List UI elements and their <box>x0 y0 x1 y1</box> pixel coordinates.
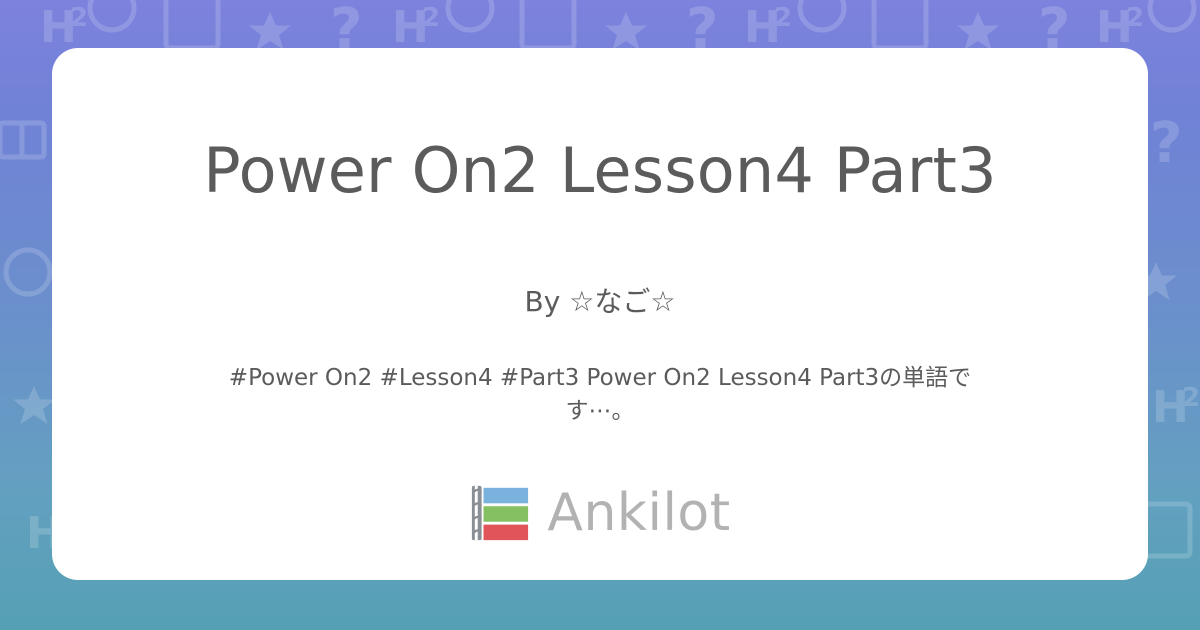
share-card-canvas: H 2 ? <box>0 0 1200 630</box>
notebook-icon <box>469 482 531 544</box>
brand-name: Ankilot <box>547 487 730 539</box>
deck-author: By ☆なご☆ <box>92 284 1108 320</box>
deck-description: #Power On2 #Lesson4 #Part3 Power On2 Les… <box>202 362 998 427</box>
deck-title: Power On2 Lesson4 Part3 <box>92 134 1108 207</box>
deck-card: Power On2 Lesson4 Part3 By ☆なご☆ #Power O… <box>52 48 1148 580</box>
brand-lockup: Ankilot <box>52 482 1148 544</box>
